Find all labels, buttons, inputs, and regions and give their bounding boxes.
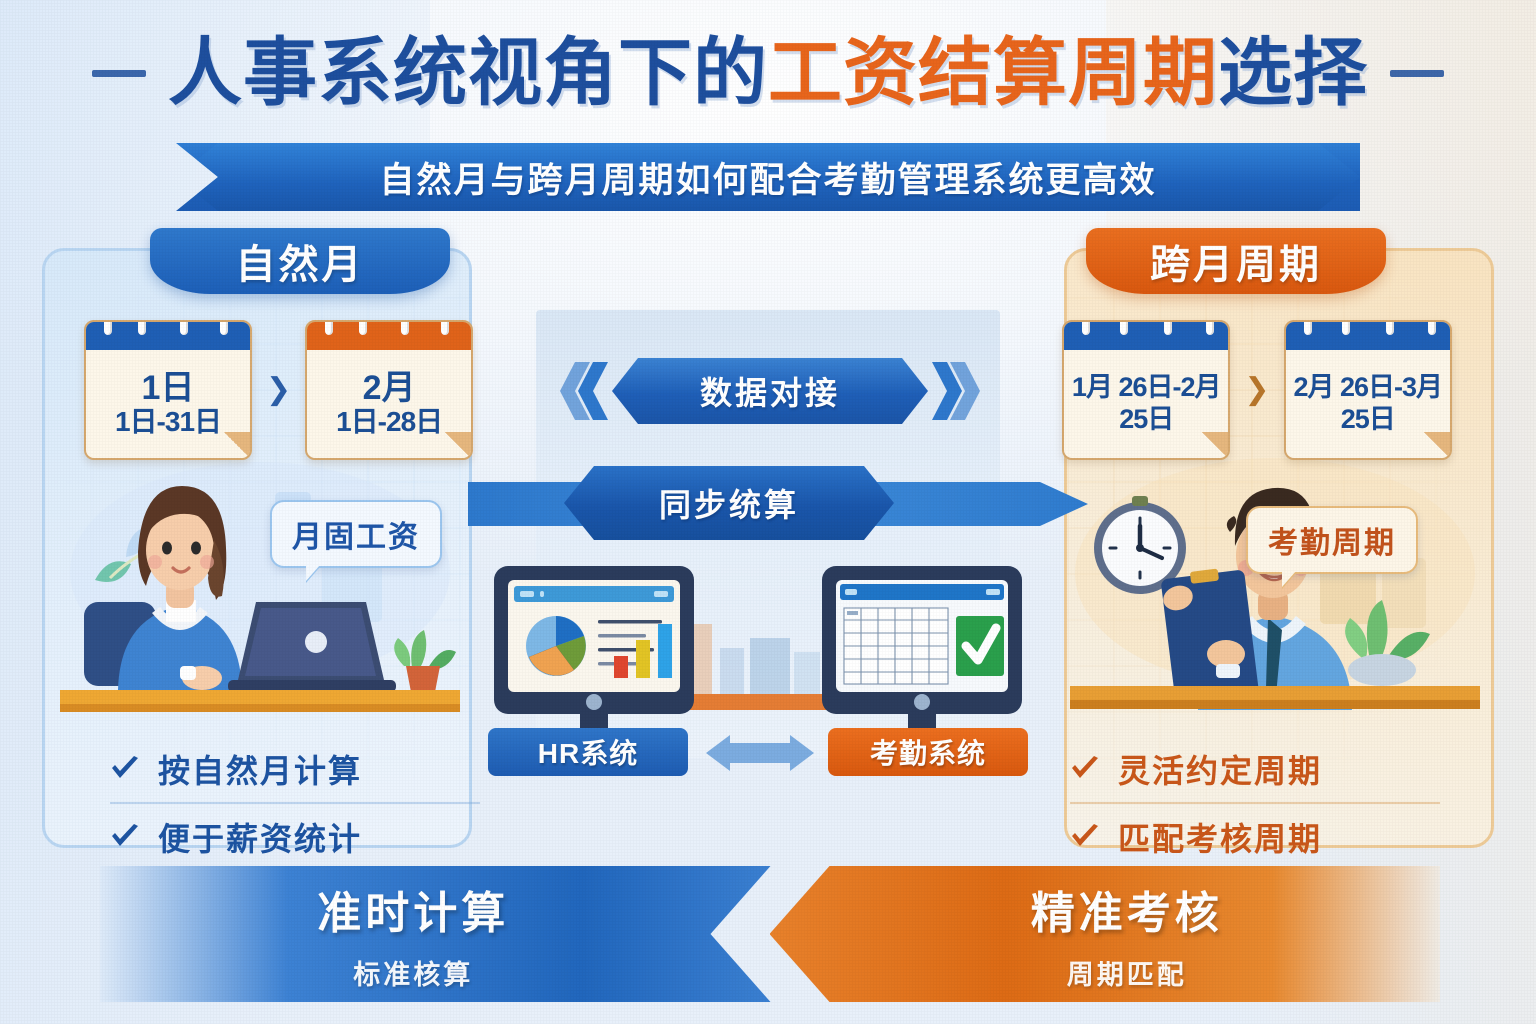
calendar-rings <box>86 320 250 339</box>
ring-icon <box>104 320 112 335</box>
ring-icon <box>359 320 367 335</box>
ring-icon <box>1082 320 1090 335</box>
bottom-right-title: 精准考核 <box>1031 877 1223 941</box>
page-fold-icon <box>224 432 250 458</box>
page-fold-icon <box>1424 432 1450 458</box>
bottom-right-subtitle: 周期匹配 <box>1067 953 1187 992</box>
calendar-card: 2月 26日-3月 25日 <box>1284 320 1452 460</box>
calendar-rings <box>307 320 471 339</box>
check-icon <box>1070 756 1100 782</box>
arrow-banner-body: 同步统算 <box>564 466 894 540</box>
illustration-hr-specialist <box>60 452 460 712</box>
calendar-row-right: 1月 26日-2月 25日 ❯ 2月 26日-3月 25日 <box>1062 320 1452 460</box>
calendar-top-bar <box>1064 322 1228 350</box>
speech-bubble-right: 考勤周期 <box>1246 506 1418 574</box>
monitor-hr-system <box>494 566 694 742</box>
ring-icon <box>220 320 228 335</box>
ring-icon <box>325 320 333 335</box>
ring-icon <box>138 320 146 335</box>
panel-right-heading: 跨月周期 <box>1086 228 1386 294</box>
calendar-range-line1: 2月 26日-3月 <box>1293 372 1442 404</box>
chevron-banner-body: 数据对接 <box>612 358 928 424</box>
calendar-month: 1日 <box>142 371 195 407</box>
ring-icon <box>1206 320 1214 335</box>
panel-left-heading: 自然月 <box>150 228 450 294</box>
calendar-card: 1月 26日-2月 25日 <box>1062 320 1230 460</box>
calendar-top-bar <box>86 322 250 350</box>
page-title: 人事系统视角下的工资结算周期选择 <box>0 34 1536 112</box>
calendar-range: 1日-31日 <box>115 407 221 436</box>
sync-arrow-banner: 同步统算 <box>468 466 1068 540</box>
list-item: 灵活约定周期 <box>1070 736 1440 802</box>
ring-icon <box>180 320 188 335</box>
ring-icon <box>1304 320 1312 335</box>
check-icon <box>110 756 140 782</box>
bottom-summary-banner: 准时计算 标准核算 精准考核 周期匹配 <box>100 866 1440 1002</box>
title-dash-left <box>92 70 146 77</box>
calendar-range-line2: 25日 <box>1119 404 1173 436</box>
calendar-month: 2月 <box>363 371 416 407</box>
list-item-label: 灵活约定周期 <box>1118 746 1322 792</box>
bidirectional-sync-arrow-icon <box>700 730 820 776</box>
page-fold-icon <box>445 432 471 458</box>
calendar-card: 2月 1日-28日 <box>305 320 473 460</box>
subtitle-text: 自然月与跨月周期如何配合考勤管理系统更高效 <box>379 152 1156 203</box>
ring-icon <box>441 320 449 335</box>
list-item-label: 按自然月计算 <box>158 746 362 792</box>
subtitle-ribbon: 自然月与跨月周期如何配合考勤管理系统更高效 <box>176 143 1360 211</box>
feature-list-right: 灵活约定周期 匹配考核周期 <box>1070 736 1440 870</box>
calendar-card: 1日 1日-31日 <box>84 320 252 460</box>
feature-list-left: 按自然月计算 便于薪资统计 <box>110 736 480 870</box>
illustration-attendance-manager <box>1070 448 1480 713</box>
data-sync-chevron-banner: 数据对接 <box>560 358 980 424</box>
ring-icon <box>1342 320 1350 335</box>
title-text: 人事系统视角下的工资结算周期选择 <box>168 34 1368 112</box>
calendar-rings <box>1286 320 1450 339</box>
list-item-label: 便于薪资统计 <box>158 814 362 860</box>
infographic-canvas: 人事系统视角下的工资结算周期选择 自然月与跨月周期如何配合考勤管理系统更高效 自… <box>0 0 1536 1024</box>
ring-icon <box>1164 320 1172 335</box>
monitor-attendance-system <box>822 566 1022 742</box>
calendar-sequence-arrow-icon: ❯ <box>1244 375 1269 405</box>
arrow-banner-label: 同步统算 <box>659 480 799 526</box>
bottom-half-left: 准时计算 标准核算 <box>100 866 771 1002</box>
chevron-banner-label: 数据对接 <box>700 368 840 414</box>
speech-bubble-left: 月固工资 <box>270 500 442 568</box>
calendar-range-line1: 1月 26日-2月 <box>1072 372 1221 404</box>
calendar-top-bar <box>307 322 471 350</box>
calendar-top-bar <box>1286 322 1450 350</box>
calendar-sequence-arrow-icon: ❯ <box>266 375 291 405</box>
ring-icon <box>401 320 409 335</box>
list-item: 按自然月计算 <box>110 736 480 802</box>
system-label-attendance: 考勤系统 <box>828 728 1028 776</box>
check-icon <box>1070 824 1100 850</box>
list-item: 便于薪资统计 <box>110 802 480 870</box>
ring-icon <box>1428 320 1436 335</box>
title-part-1: 人事系统视角下的 <box>168 31 768 114</box>
page-fold-icon <box>1202 432 1228 458</box>
title-part-3: 选择 <box>1218 31 1368 114</box>
system-label-hr: HR系统 <box>488 728 688 776</box>
bottom-half-right: 精准考核 周期匹配 <box>770 866 1441 1002</box>
ring-icon <box>1386 320 1394 335</box>
calendar-rings <box>1064 320 1228 339</box>
title-part-2: 工资结算周期 <box>768 31 1218 114</box>
list-item: 匹配考核周期 <box>1070 802 1440 870</box>
list-item-label: 匹配考核周期 <box>1118 814 1322 860</box>
calendar-range-line2: 25日 <box>1341 404 1395 436</box>
calendar-range: 1日-28日 <box>336 407 442 436</box>
title-dash-right <box>1390 70 1444 77</box>
bottom-left-title: 准时计算 <box>317 877 509 941</box>
bottom-left-subtitle: 标准核算 <box>353 953 473 992</box>
check-icon <box>110 824 140 850</box>
ring-icon <box>1120 320 1128 335</box>
calendar-row-left: 1日 1日-31日 ❯ 2月 1日-28日 <box>84 320 474 460</box>
